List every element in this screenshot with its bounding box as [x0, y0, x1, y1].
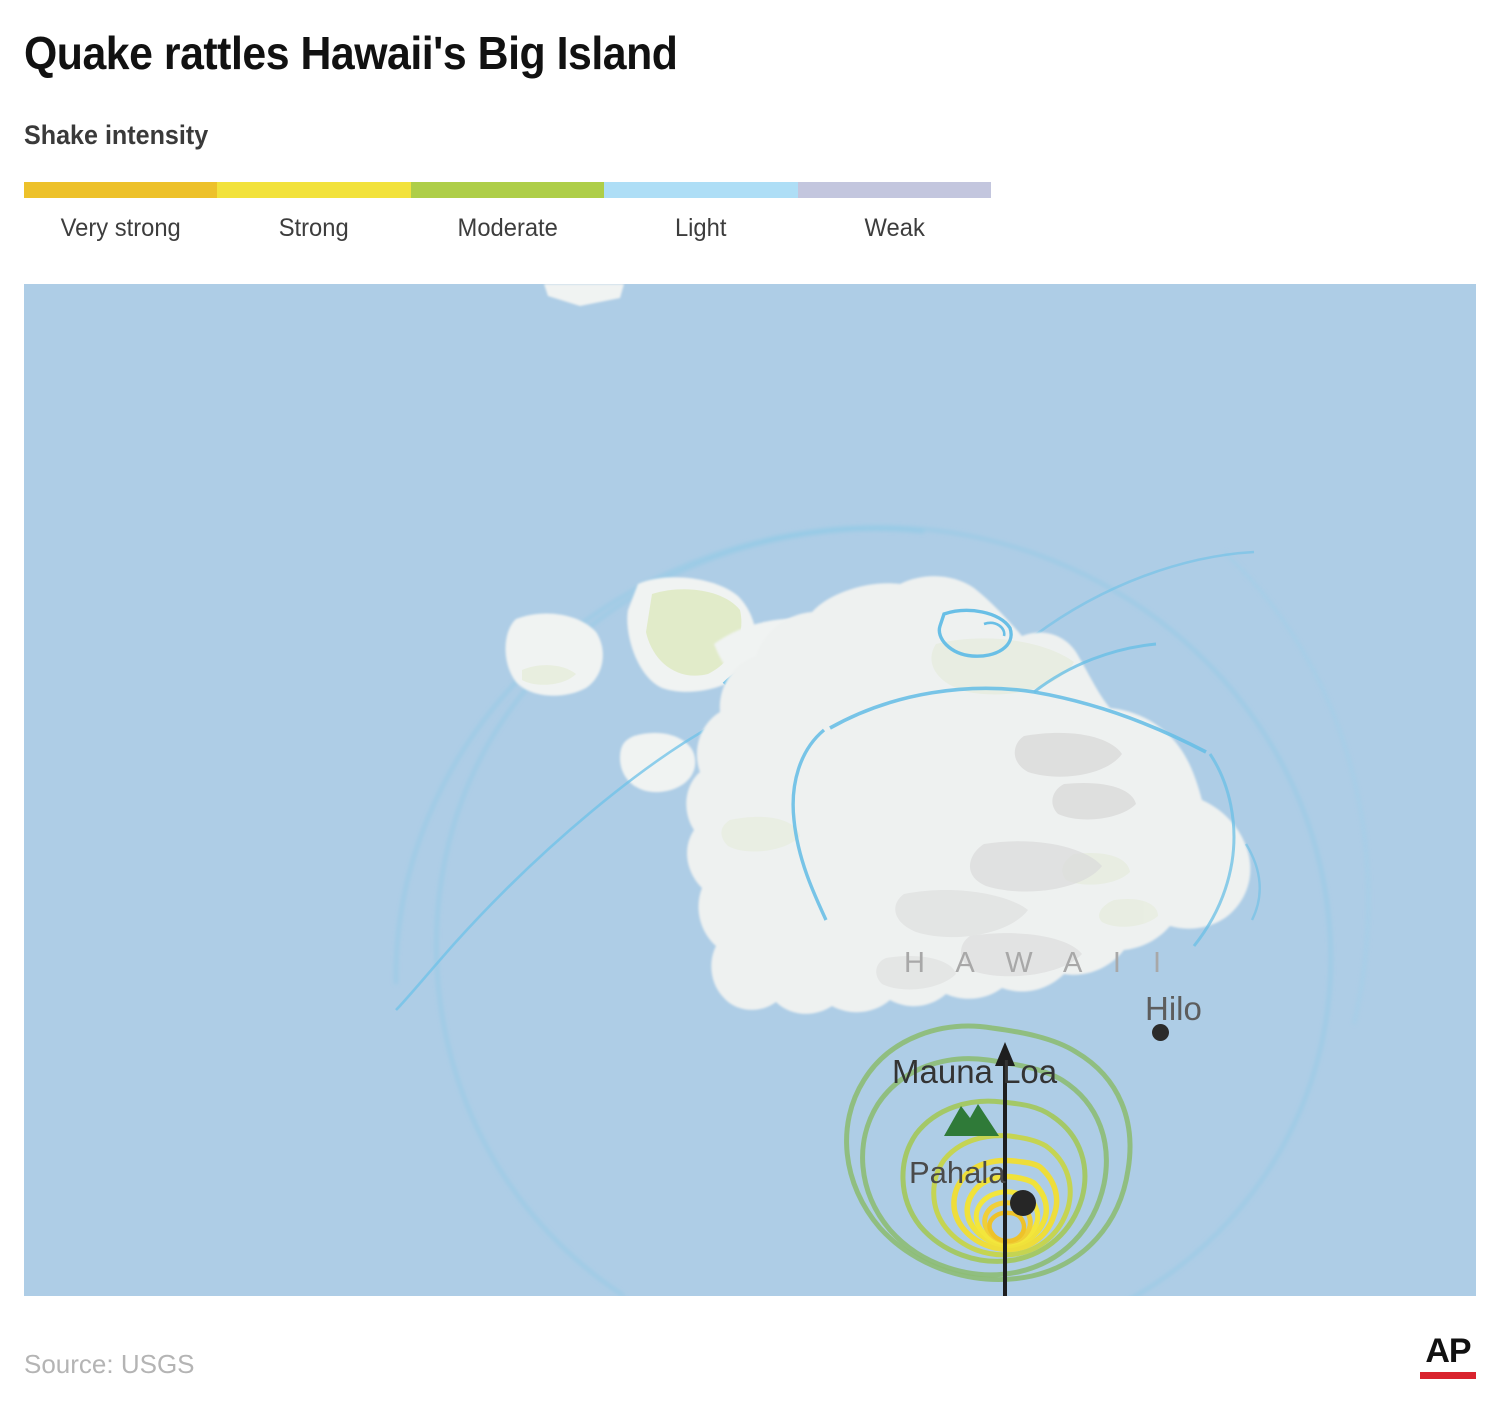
- page-title: Quake rattles Hawaii's Big Island: [24, 26, 677, 80]
- infographic-root: Quake rattles Hawaii's Big Island Shake …: [0, 0, 1500, 1413]
- legend-label-row: Very strong Strong Moderate Light Weak: [24, 214, 991, 243]
- legend-swatch-weak: [798, 182, 991, 198]
- legend-label-strong: Strong: [222, 214, 406, 243]
- epicenter-dot: [1010, 1190, 1036, 1216]
- legend-label-weak: Weak: [802, 214, 986, 243]
- legend-swatch-very-strong: [24, 182, 217, 198]
- map-canvas: [24, 284, 1476, 1296]
- legend-label-light: Light: [609, 214, 793, 243]
- shake-intensity-legend: Very strong Strong Moderate Light Weak: [24, 182, 991, 243]
- legend-swatch-light: [604, 182, 797, 198]
- legend-label-very-strong: Very strong: [29, 214, 213, 243]
- page-subtitle: Shake intensity: [24, 120, 208, 151]
- legend-color-bar: [24, 182, 991, 198]
- ap-logo-rule: [1420, 1372, 1476, 1379]
- legend-swatch-strong: [217, 182, 410, 198]
- legend-swatch-moderate: [411, 182, 604, 198]
- ap-logo: AP: [1420, 1334, 1476, 1379]
- ap-logo-text: AP: [1420, 1334, 1476, 1368]
- hilo-city-dot: [1152, 1024, 1169, 1041]
- source-note: Source: USGS: [24, 1349, 195, 1380]
- shake-intensity-map[interactable]: H A W A I I Hilo Mauna Loa Pahala 5.7-ma…: [24, 284, 1476, 1296]
- legend-label-moderate: Moderate: [416, 214, 600, 243]
